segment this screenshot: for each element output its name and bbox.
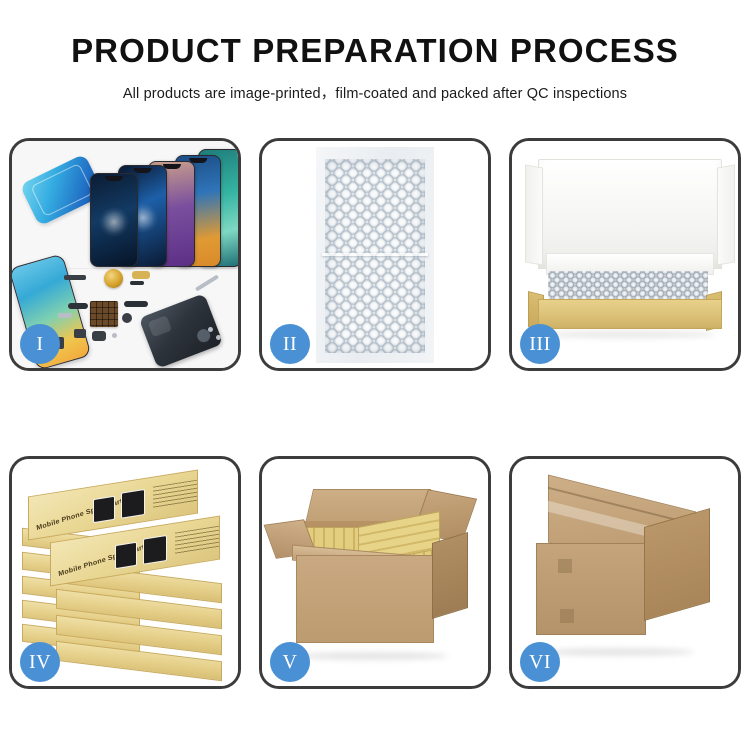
carton-handle-tab <box>560 609 574 623</box>
copper-coil-icon <box>104 269 123 288</box>
spare-part-icon <box>122 313 132 323</box>
carton-right-face <box>644 508 710 621</box>
step-badge-6: VI <box>520 642 560 682</box>
step-panel-4: Mobile Phone Spare Parts Mobile Phone Sp… <box>9 456 241 689</box>
phone-notch-icon <box>133 168 152 173</box>
step-badge-3: III <box>520 324 560 364</box>
carton-shadow <box>544 648 694 656</box>
bubble-wrap-sleeve <box>316 147 434 363</box>
spare-part-icon <box>74 329 86 338</box>
screen-glare-icon <box>99 207 129 237</box>
phone-screen-print <box>143 535 167 565</box>
phone-screen-icon <box>90 173 138 267</box>
flex-cable-icon <box>130 281 144 285</box>
step-panel-2: II <box>259 138 491 371</box>
carton-front-face <box>536 543 646 635</box>
phone-screen-print <box>121 489 145 519</box>
flex-cable-icon <box>124 301 148 307</box>
carton-shadow <box>298 652 448 660</box>
phone-screen-print <box>93 496 115 523</box>
screw-icon <box>112 333 117 338</box>
phone-screen-print <box>115 542 137 569</box>
step-badge-1: I <box>20 324 60 364</box>
spare-part-icon <box>92 331 106 341</box>
box-spec-lines <box>175 526 219 555</box>
page-header: PRODUCT PREPARATION PROCESS All products… <box>0 0 750 103</box>
process-steps-grid: I II III <box>9 138 741 689</box>
step-panel-5: V <box>259 456 491 689</box>
step-panel-1: I <box>9 138 241 371</box>
spare-part-icon <box>64 275 86 280</box>
flex-cable-icon <box>68 303 88 309</box>
screw-icon <box>208 327 213 332</box>
spare-part-icon <box>132 271 150 279</box>
phone-notch-icon <box>105 176 123 181</box>
phone-screen-fan <box>90 155 235 267</box>
page-subtitle: All products are image-printed，film-coat… <box>0 82 750 103</box>
step-badge-2: II <box>270 324 310 364</box>
spare-part-icon <box>58 313 72 318</box>
inner-box-front <box>538 299 722 329</box>
bubble-wrap-icon <box>548 271 708 301</box>
chip-array-icon <box>90 301 118 327</box>
wrap-seam <box>322 253 428 256</box>
step-panel-6: VI <box>509 456 741 689</box>
page-title: PRODUCT PREPARATION PROCESS <box>0 34 750 69</box>
step-badge-5: V <box>270 642 310 682</box>
box-shadow <box>542 331 716 338</box>
carton-right-face <box>432 532 468 619</box>
tweezers-icon <box>195 274 219 291</box>
screw-icon <box>216 335 221 340</box>
box-spec-lines <box>153 480 197 509</box>
carton-front-face <box>296 555 434 643</box>
carton-handle-tab <box>558 559 572 573</box>
bubble-wrap-icon <box>325 159 425 353</box>
step-panel-3: III <box>509 138 741 371</box>
step-badge-4: IV <box>20 642 60 682</box>
